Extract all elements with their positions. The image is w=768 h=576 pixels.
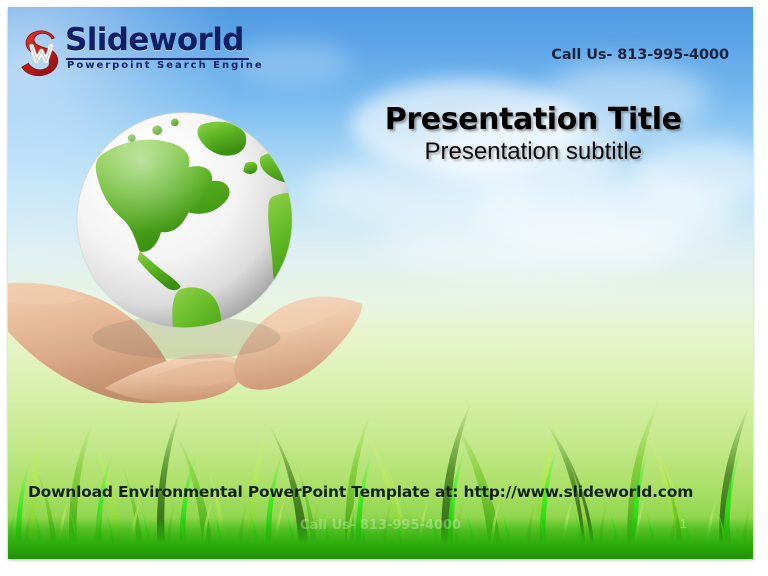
page-background: Slideworld Powerpoint Search Engine Call… — [0, 0, 768, 576]
call-us-watermark: Call Us- 813-995-4000 — [8, 518, 753, 533]
cloud-icon — [381, 206, 679, 278]
title-block[interactable]: Presentation Title Presentation subtitle — [328, 104, 738, 166]
call-us-text: Call Us- 813-995-4000 — [551, 47, 729, 63]
slide-number: 1 — [680, 516, 687, 531]
presentation-subtitle[interactable]: Presentation subtitle — [328, 138, 738, 166]
brand-name: Slideworld — [65, 25, 244, 56]
download-caption: Download Environmental PowerPoint Templa… — [28, 483, 713, 501]
slideworld-s-w-logo-icon — [17, 25, 69, 77]
presentation-title[interactable]: Presentation Title — [328, 104, 738, 136]
presentation-slide[interactable]: Slideworld Powerpoint Search Engine Call… — [8, 7, 753, 559]
brand-tagline: Powerpoint Search Engine — [67, 60, 264, 71]
hands-holding-globe-image — [8, 95, 369, 437]
slideworld-logo[interactable]: Slideworld Powerpoint Search Engine — [17, 22, 257, 82]
